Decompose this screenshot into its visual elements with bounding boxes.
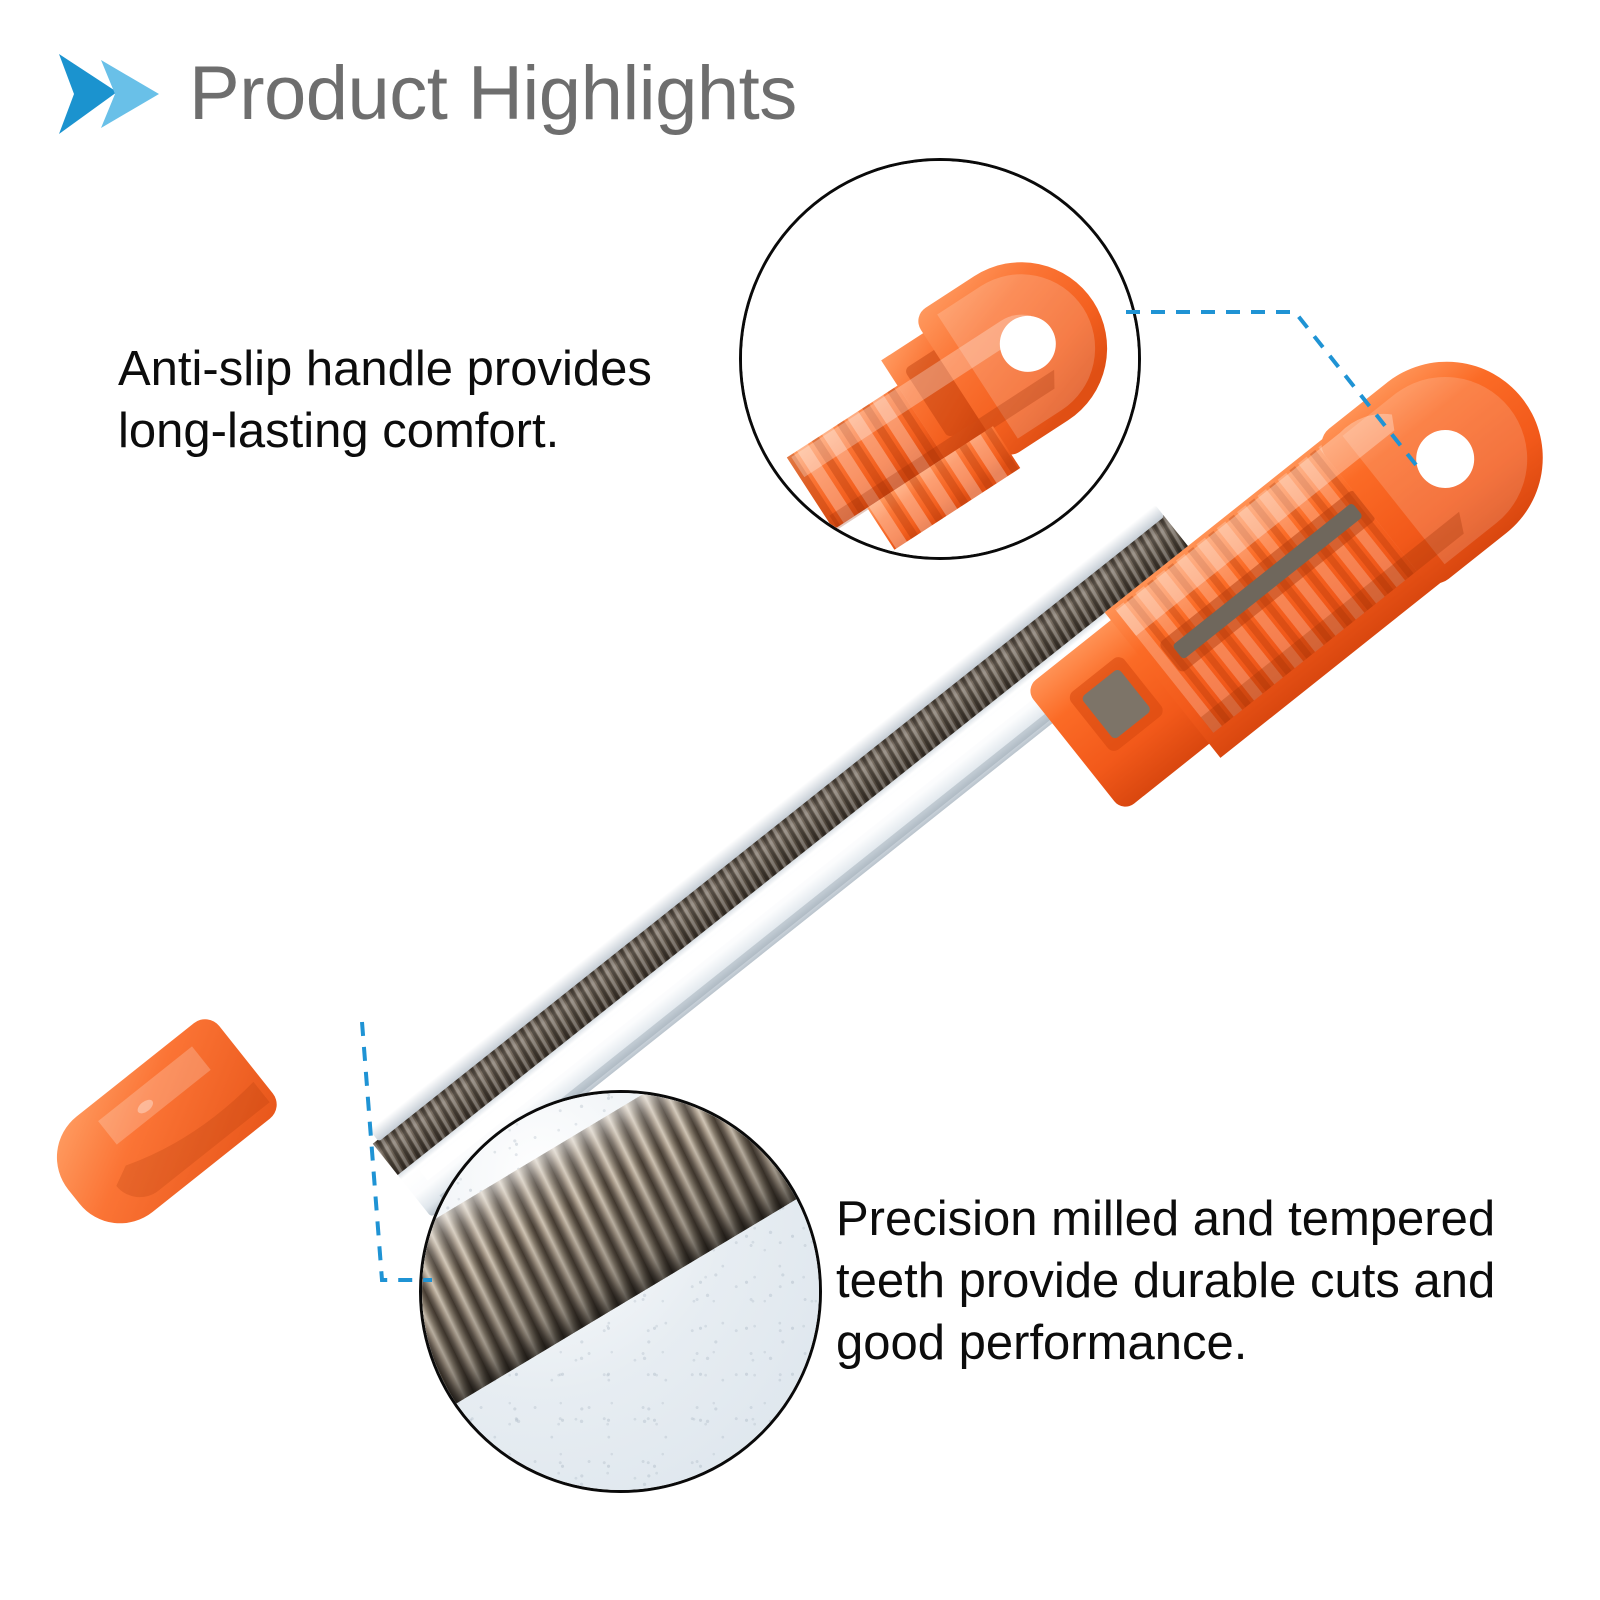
product-highlights-page: Product Highlights Anti-slip handle prov… [0,0,1600,1600]
leader-lines [0,0,1600,1600]
leader-line-handle [1126,312,1420,470]
leader-line-teeth [362,1022,432,1280]
